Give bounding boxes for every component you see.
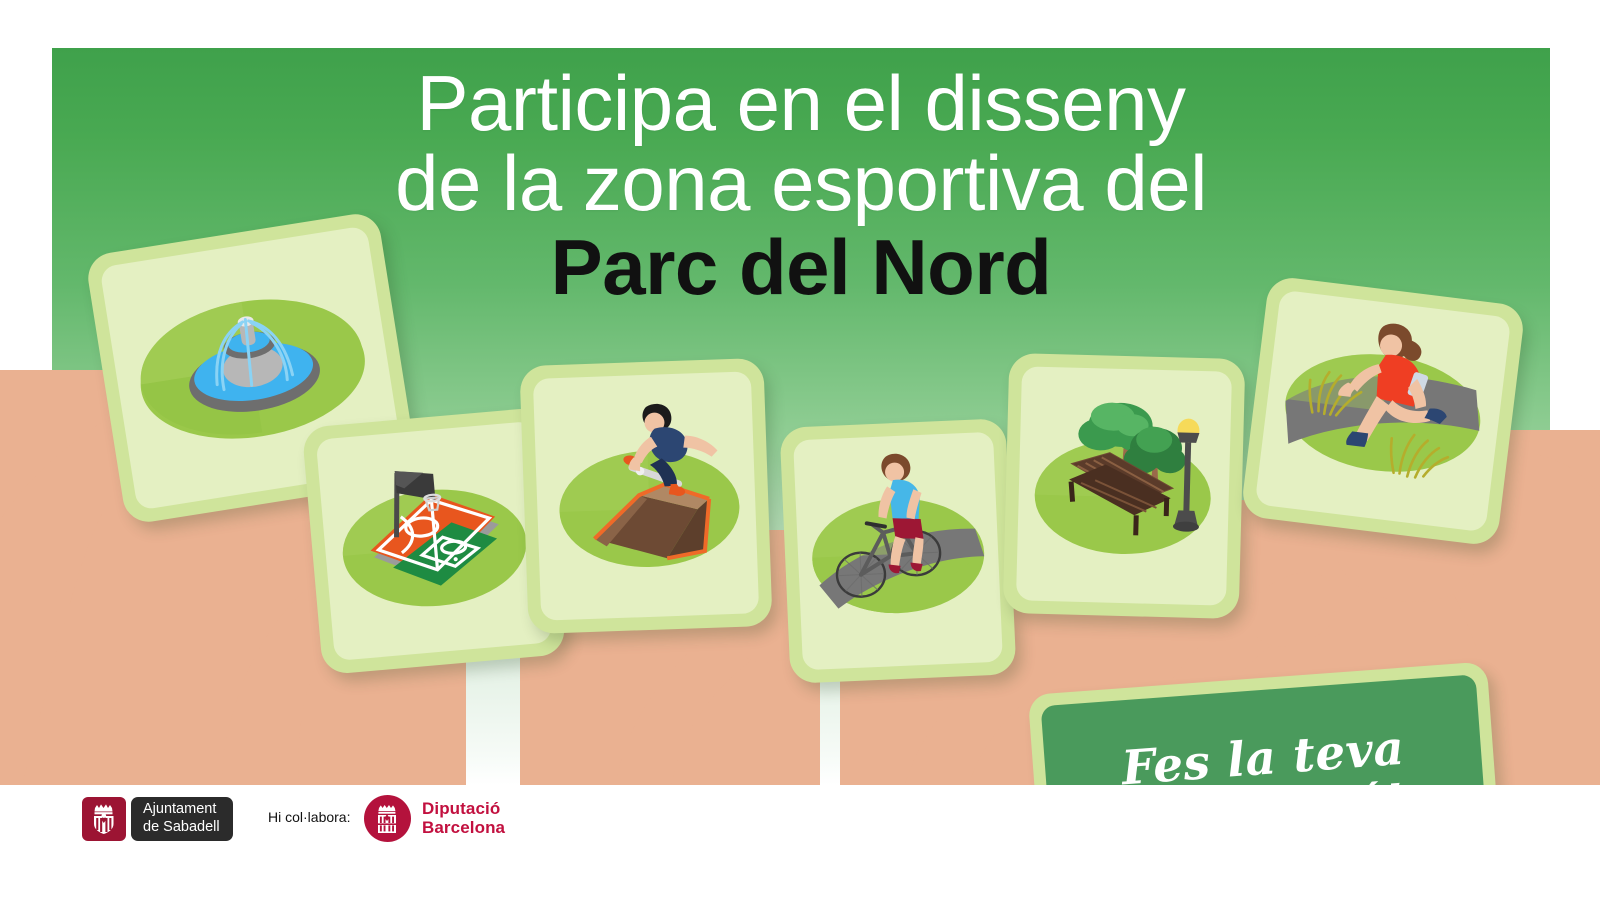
logo-diputacio-barcelona[interactable]: Diputació Barcelona	[364, 795, 505, 842]
banner-stage: Participa en el disseny de la zona espor…	[0, 0, 1600, 900]
park-bench-icon	[1016, 366, 1232, 605]
diba-line-2: Barcelona	[422, 819, 505, 838]
sports-court-icon	[316, 421, 553, 661]
skateboard-icon	[533, 371, 759, 620]
sabadell-line-1: Ajuntament	[143, 801, 220, 819]
diba-line-1: Diputació	[422, 800, 505, 819]
collaboration-label: Hi col·labora:	[268, 809, 350, 825]
sabadell-crest-icon	[82, 797, 126, 841]
card-bench[interactable]	[1003, 353, 1246, 619]
diba-nameplate: Diputació Barcelona	[422, 800, 505, 837]
sabadell-nameplate: Ajuntament de Sabadell	[131, 797, 233, 841]
footer-logos: Ajuntament de Sabadell Hi col·labora:	[0, 785, 1600, 900]
card-skate[interactable]	[519, 358, 772, 634]
card-bike[interactable]	[780, 418, 1017, 684]
logo-ajuntament-sabadell[interactable]: Ajuntament de Sabadell	[82, 797, 233, 841]
runner-icon	[1255, 290, 1512, 533]
bicycle-icon	[793, 432, 1003, 671]
diba-crest-icon	[364, 795, 411, 842]
sabadell-line-2: de Sabadell	[143, 819, 220, 837]
card-runner[interactable]	[1240, 275, 1526, 547]
